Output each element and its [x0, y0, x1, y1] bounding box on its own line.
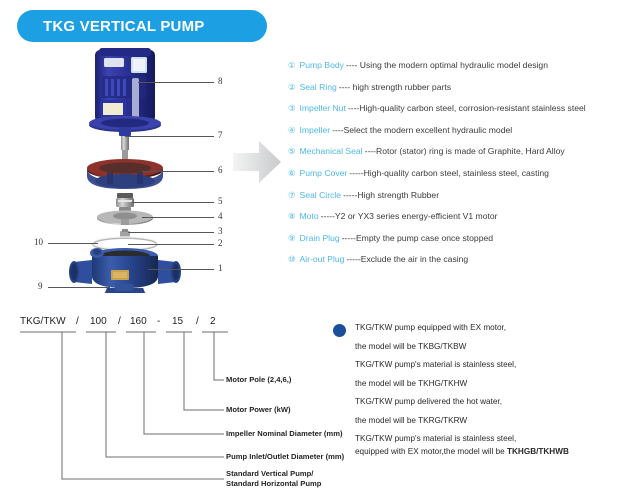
- code-label-inlet-diameter: Pump Inlet/Outlet Diameter (mm): [226, 452, 344, 462]
- legend-description: -----Exclude the air in the casing: [346, 254, 468, 265]
- legend-description: -----Y2 or YX3 series energy-efficient V…: [321, 211, 498, 222]
- legend-item: ④ Impeller ----Select the modern excelle…: [288, 125, 613, 136]
- legend-number-icon: ②: [288, 82, 296, 93]
- legend-number-icon: ⑨: [288, 233, 296, 244]
- legend-description: ----Rotor (stator) ring is made of Graph…: [365, 146, 565, 157]
- legend-part-name: Pump Cover: [300, 168, 348, 179]
- code-label-motor-pole: Motor Pole (2,4,6,): [226, 375, 291, 385]
- model-code-designation: TKG/TKW / 100 / 160 - 15 / 2: [14, 316, 314, 491]
- legend-part-name: Mechanical Seal: [300, 146, 363, 157]
- legend-part-name: Seal Ring: [300, 82, 337, 93]
- model-variant-notes: TKG/TKW pump equipped with EX motor, the…: [355, 322, 613, 465]
- note-line: the model will be TKBG/TKBW: [355, 341, 613, 352]
- callout-number-7: 7: [218, 130, 223, 140]
- legend-description: -----Empty the pump case once stopped: [342, 233, 493, 244]
- legend-description: -----High-quality carbon steel, stainles…: [349, 168, 549, 179]
- code-label-pump-standard-line1: Standard Vertical Pump/: [226, 469, 313, 479]
- note-line: the model will be TKRG/TKRW: [355, 415, 613, 426]
- legend-description: ----Select the modern excellent hydrauli…: [332, 125, 512, 136]
- product-spec-sheet: TKG VERTICAL PUMP: [0, 0, 617, 500]
- page-title: TKG VERTICAL PUMP: [17, 18, 204, 35]
- legend-part-name: Moto: [300, 211, 319, 222]
- legend-part-name: Seal Circle: [300, 190, 342, 201]
- callout-number-3: 3: [218, 226, 223, 236]
- legend-item: ③ Impeller Nut ----High-quality carbon s…: [288, 103, 613, 114]
- code-label-pump-standard-line2: Standard Horizontal Pump: [226, 479, 321, 489]
- legend-number-icon: ⑥: [288, 168, 296, 179]
- pump-cover-part: [87, 159, 163, 189]
- legend-item: ⑧ Moto -----Y2 or YX3 series energy-effi…: [288, 211, 613, 222]
- note-text: equipped with EX motor,the model will be: [355, 447, 507, 456]
- legend-description: ----High-quality carbon steel, corrosion…: [348, 103, 586, 114]
- note-line: TKG/TKW pump's material is stainless ste…: [355, 433, 613, 444]
- callout-number-1: 1: [218, 263, 223, 273]
- legend-number-icon: ⑤: [288, 146, 296, 157]
- callout-number-2: 2: [218, 238, 223, 248]
- note-bold-model: TKHGB/TKHWB: [507, 447, 569, 456]
- legend-item: ⑤ Mechanical Seal ----Rotor (stator) rin…: [288, 146, 613, 157]
- legend-number-icon: ④: [288, 125, 296, 136]
- right-arrow-icon: [231, 138, 283, 186]
- legend-part-name: Air-out Plug: [300, 254, 345, 265]
- legend-number-icon: ⑦: [288, 190, 296, 201]
- legend-item: ⑨ Drain Plug -----Empty the pump case on…: [288, 233, 613, 244]
- legend-number-icon: ⑧: [288, 211, 296, 222]
- legend-item: ⑥ Pump Cover -----High-quality carbon st…: [288, 168, 613, 179]
- legend-description: ---- Using the modern optimal hydraulic …: [346, 60, 548, 71]
- parts-legend: ① Pump Body ---- Using the modern optima…: [288, 60, 613, 276]
- legend-item: ① Pump Body ---- Using the modern optima…: [288, 60, 613, 71]
- callout-number-6: 6: [218, 165, 223, 175]
- note-line: TKG/TKW pump's material is stainless ste…: [355, 359, 613, 370]
- callout-number-10: 10: [34, 237, 43, 247]
- legend-number-icon: ①: [288, 60, 296, 71]
- callout-number-4: 4: [218, 211, 223, 221]
- legend-description: ---- high strength rubber parts: [339, 82, 451, 93]
- legend-part-name: Pump Body: [300, 60, 344, 71]
- legend-item: ⑩ Air-out Plug -----Exclude the air in t…: [288, 254, 613, 265]
- bullet-icon: [333, 324, 346, 337]
- code-label-impeller-diameter: Impeller Nominal Diameter (mm): [226, 429, 342, 439]
- legend-number-icon: ③: [288, 103, 296, 114]
- legend-item: ② Seal Ring ---- high strength rubber pa…: [288, 82, 613, 93]
- callout-number-5: 5: [218, 196, 223, 206]
- callout-number-8: 8: [218, 76, 223, 86]
- legend-item: ⑦ Seal Circle -----High strength Rubber: [288, 190, 613, 201]
- legend-description: -----High strength Rubber: [343, 190, 439, 201]
- legend-part-name: Impeller Nut: [300, 103, 346, 114]
- motor-part: [89, 48, 161, 132]
- callout-number-9: 9: [38, 281, 43, 291]
- impeller-nut-part: [120, 229, 130, 237]
- note-line: TKG/TKW pump delivered the hot water,: [355, 396, 613, 407]
- legend-part-name: Impeller: [300, 125, 331, 136]
- page-title-banner: TKG VERTICAL PUMP: [17, 10, 267, 42]
- code-leader-lines: [14, 316, 314, 491]
- note-line-with-bold: equipped with EX motor,the model will be…: [355, 446, 613, 457]
- code-label-motor-power: Motor Power (kW): [226, 405, 291, 415]
- note-line: TKG/TKW pump equipped with EX motor,: [355, 322, 613, 333]
- legend-part-name: Drain Plug: [300, 233, 340, 244]
- legend-number-icon: ⑩: [288, 254, 296, 265]
- note-line: the model will be TKHG/TKHW: [355, 378, 613, 389]
